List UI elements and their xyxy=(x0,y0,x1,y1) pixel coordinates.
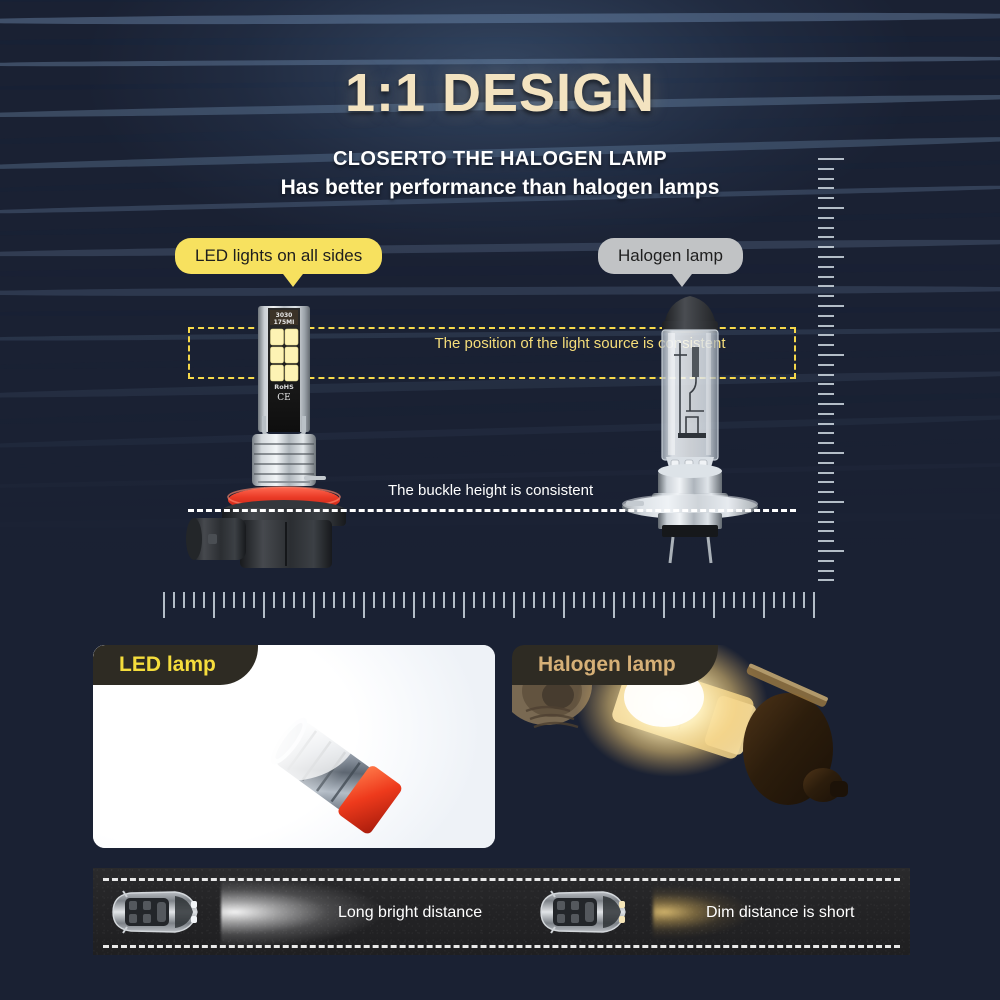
ruler-tick xyxy=(583,592,585,608)
ruler-tick xyxy=(818,354,844,356)
led-chip-label: 3030 xyxy=(276,312,293,319)
ruler-tick xyxy=(253,592,255,608)
car-top-view-led xyxy=(105,887,203,937)
ruler-tick xyxy=(623,592,625,608)
background-stripe xyxy=(0,0,1000,4)
ruler-tick xyxy=(603,592,605,608)
badge-halogen-lamp[interactable]: Halogen lamp xyxy=(598,238,743,274)
ruler-tick xyxy=(193,592,195,608)
panel-halogen-lamp[interactable]: Halogen lamp xyxy=(512,645,910,848)
halogen-insulator xyxy=(662,525,718,537)
ruler-tick xyxy=(818,158,844,160)
ruler-tick xyxy=(483,592,485,608)
ruler-tick xyxy=(818,530,834,532)
ruler-tick xyxy=(433,592,435,608)
buckle-note-label: The buckle height is consistent xyxy=(388,482,593,499)
ruler-tick xyxy=(213,592,215,618)
ruler-tick xyxy=(353,592,355,608)
ruler-tick xyxy=(303,592,305,608)
ruler-tick xyxy=(453,592,455,608)
ruler-tick xyxy=(783,592,785,608)
ruler-tick xyxy=(563,592,565,618)
ruler-tick xyxy=(333,592,335,608)
ruler-tick xyxy=(818,344,834,346)
ruler-tick xyxy=(818,295,834,297)
ruler-tick xyxy=(818,383,834,385)
halogen-tip xyxy=(664,296,716,325)
ruler-tick xyxy=(273,592,275,608)
ruler-tick xyxy=(818,432,834,434)
ruler-tick xyxy=(413,592,415,618)
ruler-tick xyxy=(818,481,834,483)
ruler-tick xyxy=(818,315,834,317)
ruler-tick xyxy=(313,592,315,618)
ruler-tick xyxy=(818,217,834,219)
ruler-tick xyxy=(818,472,834,474)
ruler-tick xyxy=(673,592,675,608)
ruler-tick xyxy=(818,168,834,170)
ruler-tick xyxy=(703,592,705,608)
ruler-tick xyxy=(818,511,834,513)
ruler-tick xyxy=(443,592,445,608)
panel-led-lamp[interactable]: LED lamp xyxy=(93,645,495,848)
ruler-tick xyxy=(818,570,834,572)
ruler-tick xyxy=(693,592,695,608)
ruler-tick xyxy=(383,592,385,608)
car-top-view-halogen xyxy=(533,887,631,937)
ruler-tick xyxy=(543,592,545,608)
ruler-tick xyxy=(818,227,834,229)
ruler-tick xyxy=(263,592,265,618)
ruler-tick xyxy=(818,305,844,307)
ruler-tick xyxy=(713,592,715,618)
panel-tab-led: LED lamp xyxy=(93,645,258,685)
ruler-tick xyxy=(818,501,844,503)
vertical-ruler xyxy=(818,158,854,588)
ce-mark: CE xyxy=(277,393,290,403)
ruler-tick xyxy=(243,592,245,608)
ruler-tick xyxy=(818,334,834,336)
ruler-tick xyxy=(818,442,834,444)
ruler-tick xyxy=(773,592,775,608)
led-bulb-illustration: 3030 175MI RoHS CE xyxy=(178,298,368,580)
caption-dim-distance-short: Dim distance is short xyxy=(706,904,855,922)
ruler-tick xyxy=(643,592,645,608)
ruler-tick xyxy=(523,592,525,608)
ruler-tick xyxy=(818,462,834,464)
led-chip-sublabel: 175MI xyxy=(274,319,295,326)
badge-led-lights[interactable]: LED lights on all sides xyxy=(175,238,382,274)
ruler-tick xyxy=(663,592,665,618)
ruler-tick xyxy=(373,592,375,608)
ruler-tick xyxy=(818,364,834,366)
ruler-tick xyxy=(818,393,834,395)
background-stripe xyxy=(0,11,1000,25)
ruler-tick xyxy=(818,276,834,278)
ruler-tick xyxy=(818,452,844,454)
ruler-tick xyxy=(403,592,405,608)
ruler-tick xyxy=(818,178,834,180)
ruler-tick xyxy=(363,592,365,618)
ruler-tick xyxy=(613,592,615,618)
infographic-page: 1:1 DESIGN CLOSERTO THE HALOGEN LAMP Has… xyxy=(0,0,1000,1000)
ruler-tick xyxy=(818,403,844,405)
ruler-tick xyxy=(183,592,185,608)
horizontal-ruler xyxy=(163,592,823,620)
ruler-tick xyxy=(683,592,685,608)
page-title: 1:1 DESIGN xyxy=(0,62,1000,124)
ruler-tick xyxy=(503,592,505,608)
ruler-tick xyxy=(753,592,755,608)
ruler-tick xyxy=(818,187,834,189)
ruler-tick xyxy=(803,592,805,608)
ruler-tick xyxy=(733,592,735,608)
ruler-tick xyxy=(463,592,465,618)
ruler-tick xyxy=(203,592,205,608)
ruler-tick xyxy=(723,592,725,608)
ruler-tick xyxy=(283,592,285,608)
ruler-tick xyxy=(473,592,475,608)
halogen-bulb-illustration xyxy=(618,285,778,565)
ruler-tick xyxy=(653,592,655,608)
ruler-tick xyxy=(423,592,425,608)
ruler-tick xyxy=(818,207,844,209)
ruler-tick xyxy=(818,423,834,425)
ruler-tick xyxy=(818,540,834,542)
ruler-tick xyxy=(743,592,745,608)
ruler-tick xyxy=(813,592,815,618)
ruler-tick xyxy=(818,374,834,376)
ruler-tick xyxy=(533,592,535,608)
ruler-tick xyxy=(818,236,834,238)
ruler-tick xyxy=(818,325,834,327)
ruler-tick xyxy=(793,592,795,608)
ruler-tick xyxy=(223,592,225,608)
ruler-tick xyxy=(818,579,834,581)
ruler-tick xyxy=(818,197,834,199)
ruler-tick xyxy=(553,592,555,608)
ruler-tick xyxy=(173,592,175,608)
ruler-tick xyxy=(393,592,395,608)
badge-led-pointer xyxy=(280,270,306,287)
badge-halogen-pointer xyxy=(669,270,695,287)
ruler-tick xyxy=(513,592,515,618)
ruler-tick xyxy=(818,256,844,258)
ruler-tick xyxy=(818,413,834,415)
ruler-tick xyxy=(818,560,834,562)
ruler-tick xyxy=(818,285,834,287)
ruler-tick xyxy=(573,592,575,608)
ruler-tick xyxy=(818,246,834,248)
ruler-tick xyxy=(763,592,765,618)
ruler-tick xyxy=(293,592,295,608)
ruler-tick xyxy=(323,592,325,608)
ruler-tick xyxy=(343,592,345,608)
ruler-tick xyxy=(233,592,235,608)
ruler-tick xyxy=(633,592,635,608)
rohs-mark: RoHS xyxy=(274,383,294,391)
ruler-tick xyxy=(163,592,165,618)
ruler-tick xyxy=(493,592,495,608)
buckle-height-line xyxy=(188,509,796,512)
ruler-tick xyxy=(818,521,834,523)
ruler-tick xyxy=(818,266,834,268)
ruler-tick xyxy=(818,491,834,493)
halogen-pins xyxy=(670,537,711,563)
beam-comparison-strip: Long bright distance Dim distance is sho… xyxy=(93,868,910,955)
ruler-tick xyxy=(818,550,844,552)
halogen-cap-silhouette xyxy=(743,693,848,805)
background-stripe xyxy=(0,35,1000,46)
caption-long-bright-distance: Long bright distance xyxy=(338,904,482,922)
ruler-tick xyxy=(593,592,595,608)
panel-tab-halogen: Halogen lamp xyxy=(512,645,718,685)
